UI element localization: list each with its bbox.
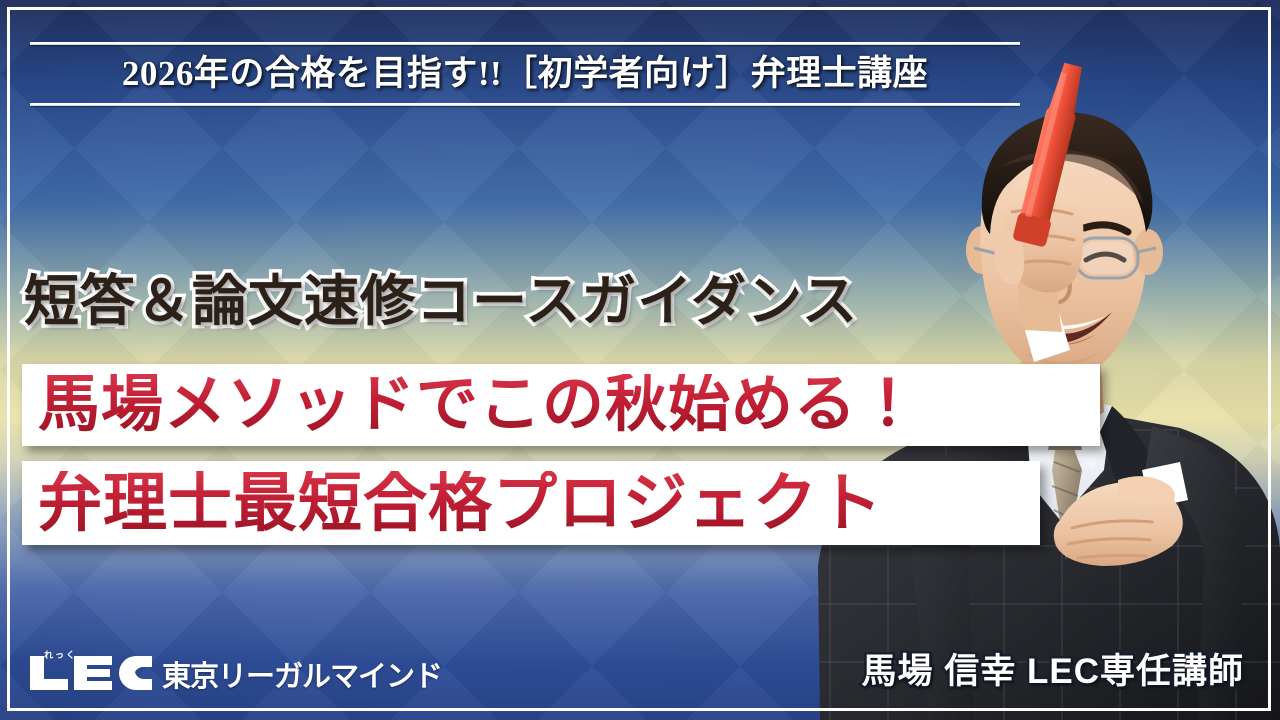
headline-line-1: 馬場メソッドでこの秋始める！	[22, 374, 920, 436]
header-title: 2026年の合格を目指す!!［初学者向け］弁理士講座	[30, 45, 1020, 103]
headline-line-2: 弁理士最短合格プロジェクト	[22, 471, 883, 535]
instructor-photo	[760, 0, 1280, 720]
headline-band-first: 馬場メソッドでこの秋始める！	[22, 364, 1100, 446]
lec-logo-furigana: れっく	[44, 651, 77, 660]
lec-logo-mark: れっく	[28, 652, 154, 692]
lec-logo-wordmark: 東京リーガルマインド	[162, 662, 442, 692]
course-subtitle: 短答＆論文速修コースガイダンス	[24, 266, 858, 336]
instructor-name-caption: 馬場 信幸 LEC専任講師	[862, 650, 1244, 694]
lec-logo: れっく 東京リーガルマインド	[28, 652, 442, 692]
presentation-slide: 2026年の合格を目指す!!［初学者向け］弁理士講座 短答＆論文速修コースガイダ…	[0, 0, 1280, 720]
header-rule-bottom	[30, 103, 1020, 106]
headline-band-second: 弁理士最短合格プロジェクト	[22, 461, 1040, 545]
slide-header: 2026年の合格を目指す!!［初学者向け］弁理士講座	[30, 42, 1020, 106]
